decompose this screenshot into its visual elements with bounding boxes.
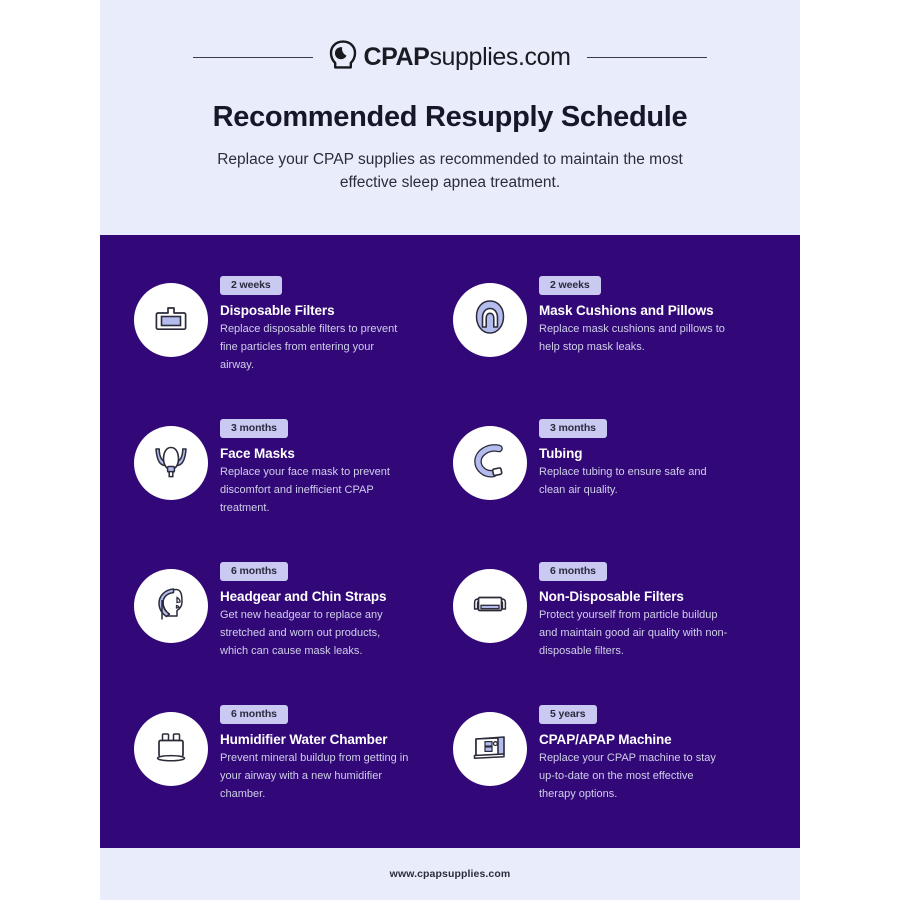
schedule-item: 2 weeks Mask Cushions and Pillows Replac… bbox=[453, 273, 766, 416]
interval-badge: 5 years bbox=[539, 705, 597, 724]
interval-badge: 3 months bbox=[539, 419, 607, 438]
icon-badge bbox=[453, 426, 527, 500]
face-mask-icon bbox=[147, 437, 195, 490]
brand-logo-row: CPAPsupplies.com bbox=[100, 40, 800, 75]
item-description: Prevent mineral buildup from getting in … bbox=[220, 750, 410, 803]
brand-logo: CPAPsupplies.com bbox=[313, 40, 586, 75]
interval-badge: 6 months bbox=[220, 562, 288, 581]
item-title: Headgear and Chin Straps bbox=[220, 589, 447, 604]
footer: www.cpapsupplies.com bbox=[100, 848, 800, 900]
non-disposable-filter-icon bbox=[466, 580, 514, 633]
item-description: Replace your face mask to prevent discom… bbox=[220, 464, 410, 517]
rule-right bbox=[587, 57, 707, 58]
interval-badge: 6 months bbox=[220, 705, 288, 724]
item-description: Replace tubing to ensure safe and clean … bbox=[539, 464, 729, 500]
item-description: Replace mask cushions and pillows to hel… bbox=[539, 321, 729, 357]
item-text: 6 months Non-Disposable Filters Protect … bbox=[539, 559, 766, 660]
schedule-section: 2 weeks Disposable Filters Replace dispo… bbox=[100, 235, 800, 848]
cpap-machine-icon bbox=[466, 723, 514, 776]
item-text: 2 weeks Disposable Filters Replace dispo… bbox=[220, 273, 447, 374]
tubing-icon bbox=[466, 437, 514, 490]
icon-badge bbox=[453, 283, 527, 357]
mask-cushion-icon bbox=[466, 294, 514, 347]
schedule-item: 5 years CPAP/APAP Machine Replace your C… bbox=[453, 702, 766, 845]
schedule-item: 6 months Headgear and Chin Straps Get ne… bbox=[134, 559, 447, 702]
item-text: 6 months Humidifier Water Chamber Preven… bbox=[220, 702, 447, 803]
schedule-item: 6 months Non-Disposable Filters Protect … bbox=[453, 559, 766, 702]
schedule-grid: 2 weeks Disposable Filters Replace dispo… bbox=[134, 273, 766, 845]
schedule-item: 3 months Tubing Replace tubing to ensure… bbox=[453, 416, 766, 559]
item-title: Mask Cushions and Pillows bbox=[539, 303, 766, 318]
item-text: 3 months Tubing Replace tubing to ensure… bbox=[539, 416, 766, 500]
humidifier-chamber-icon bbox=[147, 723, 195, 776]
icon-badge bbox=[453, 712, 527, 786]
item-text: 2 weeks Mask Cushions and Pillows Replac… bbox=[539, 273, 766, 357]
item-title: Tubing bbox=[539, 446, 766, 461]
disposable-filter-icon bbox=[147, 294, 195, 347]
page-title: Recommended Resupply Schedule bbox=[100, 101, 800, 134]
infographic-page: CPAPsupplies.com Recommended Resupply Sc… bbox=[0, 0, 900, 900]
item-title: CPAP/APAP Machine bbox=[539, 732, 766, 747]
schedule-item: 2 weeks Disposable Filters Replace dispo… bbox=[134, 273, 447, 416]
interval-badge: 2 weeks bbox=[220, 276, 282, 295]
brand-name: CPAPsupplies.com bbox=[363, 43, 570, 72]
item-title: Face Masks bbox=[220, 446, 447, 461]
headgear-icon bbox=[147, 580, 195, 633]
item-description: Replace disposable filters to prevent fi… bbox=[220, 321, 410, 374]
header: CPAPsupplies.com Recommended Resupply Sc… bbox=[100, 0, 800, 235]
item-title: Non-Disposable Filters bbox=[539, 589, 766, 604]
icon-badge bbox=[453, 569, 527, 643]
rule-left bbox=[193, 57, 313, 58]
moon-pin-icon bbox=[329, 40, 357, 75]
item-title: Humidifier Water Chamber bbox=[220, 732, 447, 747]
brand-name-regular: supplies.com bbox=[429, 43, 570, 71]
item-description: Protect yourself from particle buildup a… bbox=[539, 607, 729, 660]
icon-badge bbox=[134, 569, 208, 643]
item-text: 3 months Face Masks Replace your face ma… bbox=[220, 416, 447, 517]
icon-badge bbox=[134, 712, 208, 786]
item-text: 5 years CPAP/APAP Machine Replace your C… bbox=[539, 702, 766, 803]
icon-badge bbox=[134, 426, 208, 500]
schedule-item: 3 months Face Masks Replace your face ma… bbox=[134, 416, 447, 559]
item-title: Disposable Filters bbox=[220, 303, 447, 318]
icon-badge bbox=[134, 283, 208, 357]
interval-badge: 2 weeks bbox=[539, 276, 601, 295]
footer-url: www.cpapsupplies.com bbox=[390, 868, 511, 880]
interval-badge: 3 months bbox=[220, 419, 288, 438]
schedule-item: 6 months Humidifier Water Chamber Preven… bbox=[134, 702, 447, 845]
item-description: Replace your CPAP machine to stay up-to-… bbox=[539, 750, 729, 803]
item-text: 6 months Headgear and Chin Straps Get ne… bbox=[220, 559, 447, 660]
item-description: Get new headgear to replace any stretche… bbox=[220, 607, 410, 660]
infographic-sheet: CPAPsupplies.com Recommended Resupply Sc… bbox=[100, 0, 800, 900]
interval-badge: 6 months bbox=[539, 562, 607, 581]
brand-name-bold: CPAP bbox=[363, 43, 429, 71]
page-subtitle: Replace your CPAP supplies as recommende… bbox=[210, 148, 690, 195]
